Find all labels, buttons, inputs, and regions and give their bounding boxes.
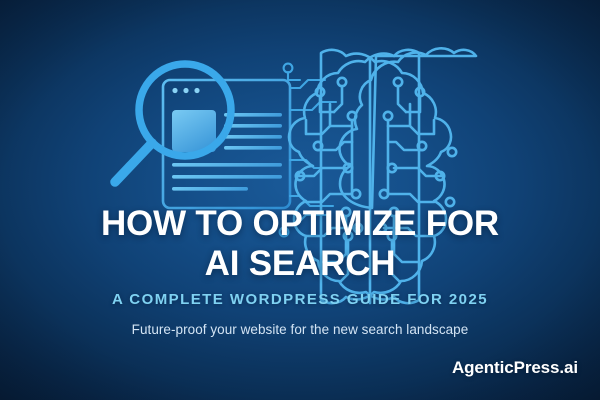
subtitle: A COMPLETE WORDPRESS GUIDE FOR 2025	[0, 291, 600, 308]
ai-search-brain-illustration	[0, 0, 600, 400]
headline-line-1: HOW TO OPTIMIZE FOR	[101, 204, 499, 243]
tagline: Future-proof your website for the new se…	[0, 322, 600, 337]
window-dot	[183, 88, 188, 93]
hero-graphic: HOW TO OPTIMIZE FOR AI SEARCH A COMPLETE…	[0, 0, 600, 400]
headline-line-2: AI SEARCH	[0, 244, 600, 284]
window-dot	[194, 88, 199, 93]
brand-logo-text: AgenticPress.ai	[452, 358, 578, 378]
page-title: HOW TO OPTIMIZE FOR AI SEARCH	[0, 204, 600, 284]
window-dot	[172, 88, 177, 93]
